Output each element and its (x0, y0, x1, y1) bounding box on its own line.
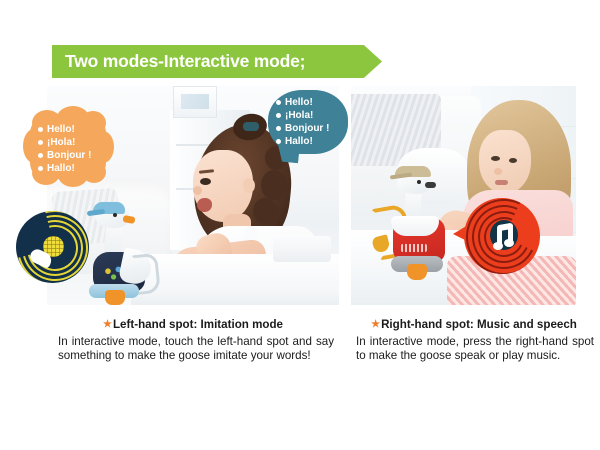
greeting-item: Bonjour ! (38, 149, 91, 162)
caption-right: ★Right-hand spot: Music and speech In in… (356, 318, 594, 364)
picture-frame (173, 86, 217, 118)
greeting-text: Hallo! (47, 163, 75, 174)
greeting-text: ¡Hola! (285, 110, 313, 121)
bullet-icon (38, 140, 43, 145)
greeting-text: ¡Hola! (47, 137, 75, 148)
greeting-item: ¡Hola! (38, 136, 91, 149)
bullet-icon (38, 166, 43, 171)
greeting-text: Bonjour ! (47, 150, 91, 161)
goose-collar (391, 216, 439, 236)
bullet-icon (276, 139, 281, 144)
girl-ear (243, 178, 255, 193)
greeting-item: ¡Hola! (276, 109, 329, 122)
note-head (493, 242, 503, 250)
eighth-note-glyph (494, 224, 518, 250)
table-object (273, 236, 331, 262)
bullet-icon (276, 126, 281, 131)
bullet-icon (38, 127, 43, 132)
girl-curl (253, 198, 277, 224)
goose-toy-right (377, 160, 457, 290)
caption-left: ★Left-hand spot: Imitation mode In inter… (58, 318, 334, 364)
caption-left-body: In interactive mode, touch the left-hand… (58, 335, 334, 364)
girl-nose (494, 168, 502, 175)
goose-eye (113, 213, 117, 217)
caption-right-heading: ★Right-hand spot: Music and speech (356, 318, 594, 333)
girl-eye (491, 156, 500, 161)
greeting-text: Bonjour ! (285, 123, 329, 134)
star-icon: ★ (103, 319, 112, 330)
goose-eye (417, 180, 421, 184)
greeting-item: Hello! (38, 123, 91, 136)
goose-feet (105, 290, 125, 305)
greeting-text: Hello! (285, 97, 313, 108)
note-head (504, 239, 514, 247)
goose-beak (425, 182, 436, 188)
greeting-list-blue: Hello! ¡Hola! Bonjour ! Hallo! (268, 90, 329, 148)
goose-body-text (401, 244, 427, 252)
girl-eye (200, 178, 211, 185)
star-icon: ★ (371, 319, 380, 330)
greeting-item: Hallo! (276, 135, 329, 148)
caption-right-body: In interactive mode, press the right-han… (356, 335, 594, 364)
girl-mouth (495, 180, 508, 185)
greeting-text: Hallo! (285, 136, 313, 147)
caption-left-heading: ★Left-hand spot: Imitation mode (58, 318, 334, 333)
section-banner: Two modes-Interactive mode; (52, 45, 382, 78)
bullet-icon (276, 113, 281, 118)
caption-left-heading-text: Left-hand spot: Imitation mode (113, 318, 283, 331)
bullet-icon (276, 100, 281, 105)
greeting-list-orange: Hello! ¡Hola! Bonjour ! Hallo! (30, 117, 91, 175)
girl-nose (193, 186, 202, 195)
greeting-item: Bonjour ! (276, 122, 329, 135)
badge-disc (464, 198, 540, 274)
greeting-item: Hallo! (38, 162, 91, 175)
music-note-icon (464, 198, 540, 274)
girl-curl (261, 170, 287, 200)
girl-mouth (197, 198, 212, 212)
caption-right-heading-text: Right-hand spot: Music and speech (381, 318, 577, 331)
speech-bubble-orange: Hello! ¡Hola! Bonjour ! Hallo! (30, 117, 106, 179)
greeting-item: Hello! (276, 96, 329, 109)
page-title: Two modes-Interactive mode; (65, 45, 305, 78)
greeting-text: Hello! (47, 124, 75, 135)
girl-hair-tie (243, 122, 259, 131)
touch-hand-icon (16, 211, 89, 283)
goose-toy-left (83, 202, 157, 305)
speech-bubble-blue: Hello! ¡Hola! Bonjour ! Hallo! (268, 90, 348, 154)
girl-eye (509, 158, 517, 163)
goose-feet (407, 264, 427, 280)
bullet-icon (38, 153, 43, 158)
